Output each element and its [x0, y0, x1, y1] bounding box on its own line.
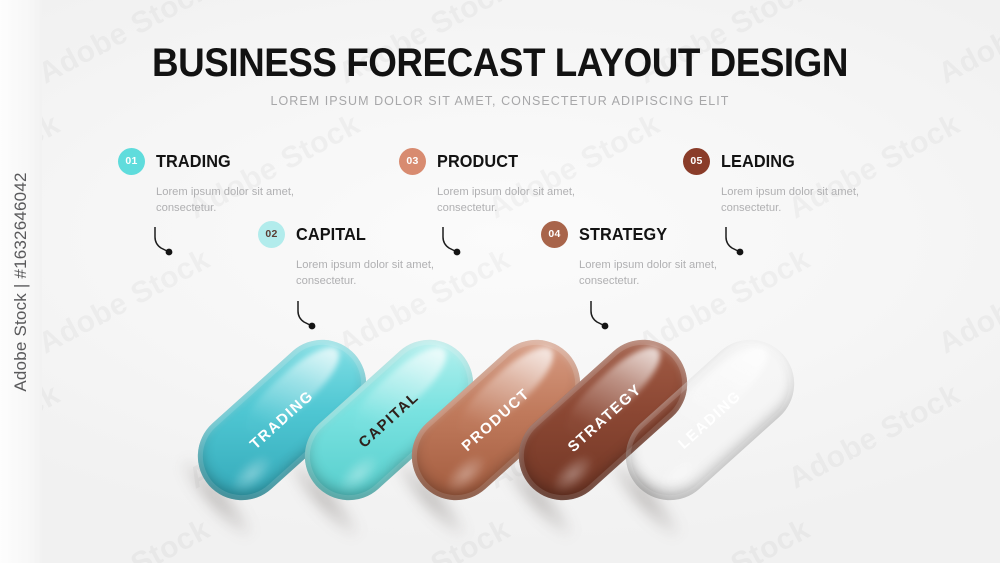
- step-item-product[interactable]: 03 PRODUCT Lorem ipsum dolor sit amet, c…: [399, 147, 579, 216]
- step-header: 05 LEADING: [683, 147, 863, 175]
- step-title-strategy: STRATEGY: [579, 224, 667, 245]
- step-header: 02 CAPITAL: [258, 220, 438, 248]
- step-header: 04 STRATEGY: [541, 220, 721, 248]
- step-item-capital[interactable]: 02 CAPITAL Lorem ipsum dolor sit amet, c…: [258, 220, 438, 289]
- step-item-trading[interactable]: 01 TRADING Lorem ipsum dolor sit amet, c…: [118, 147, 298, 216]
- page-title: BUSINESS FORECAST LAYOUT DESIGN: [40, 42, 960, 84]
- connector-line-03: [440, 225, 474, 259]
- step-description-product: Lorem ipsum dolor sit amet, consectetur.: [437, 184, 579, 216]
- header: BUSINESS FORECAST LAYOUT DESIGN LOREM IP…: [0, 42, 1000, 108]
- step-badge-01: 01: [118, 148, 145, 175]
- step-description-strategy: Lorem ipsum dolor sit amet, consectetur.: [579, 257, 721, 289]
- step-header: 01 TRADING: [118, 147, 298, 175]
- step-badge-03: 03: [399, 148, 426, 175]
- step-item-strategy[interactable]: 04 STRATEGY Lorem ipsum dolor sit amet, …: [541, 220, 721, 289]
- infographic-canvas: Adobe StockAdobe StockAdobe StockAdobe S…: [0, 0, 1000, 563]
- step-badge-05: 05: [683, 148, 710, 175]
- step-title-leading: LEADING: [721, 151, 795, 172]
- step-description-trading: Lorem ipsum dolor sit amet, consectetur.: [156, 184, 298, 216]
- watermark-text: Adobe Stock: [783, 378, 966, 497]
- step-title-trading: TRADING: [156, 151, 231, 172]
- step-description-leading: Lorem ipsum dolor sit amet, consectetur.: [721, 184, 863, 216]
- connector-line-01: [152, 225, 186, 259]
- stock-credit-text: Adobe Stock | #1632646042: [11, 172, 31, 391]
- step-badge-04: 04: [541, 221, 568, 248]
- step-item-leading[interactable]: 05 LEADING Lorem ipsum dolor sit amet, c…: [683, 147, 863, 216]
- watermark-text: Adobe Stock: [933, 243, 1000, 362]
- watermark-text: Adobe Stock: [333, 513, 516, 563]
- watermark-text: Adobe Stock: [33, 513, 216, 563]
- page-subtitle: LOREM IPSUM DOLOR SIT AMET, CONSECTETUR …: [0, 94, 1000, 108]
- watermark-text: Adobe Stock: [933, 513, 1000, 563]
- step-description-capital: Lorem ipsum dolor sit amet, consectetur.: [296, 257, 438, 289]
- watermark-text: Adobe Stock: [33, 243, 216, 362]
- stock-credit-bar: Adobe Stock | #1632646042: [0, 0, 42, 563]
- step-badge-02: 02: [258, 221, 285, 248]
- step-header: 03 PRODUCT: [399, 147, 579, 175]
- step-title-product: PRODUCT: [437, 151, 518, 172]
- connector-line-05: [723, 225, 757, 259]
- step-title-capital: CAPITAL: [296, 224, 366, 245]
- capsule-leading[interactable]: LEADING: [666, 322, 754, 518]
